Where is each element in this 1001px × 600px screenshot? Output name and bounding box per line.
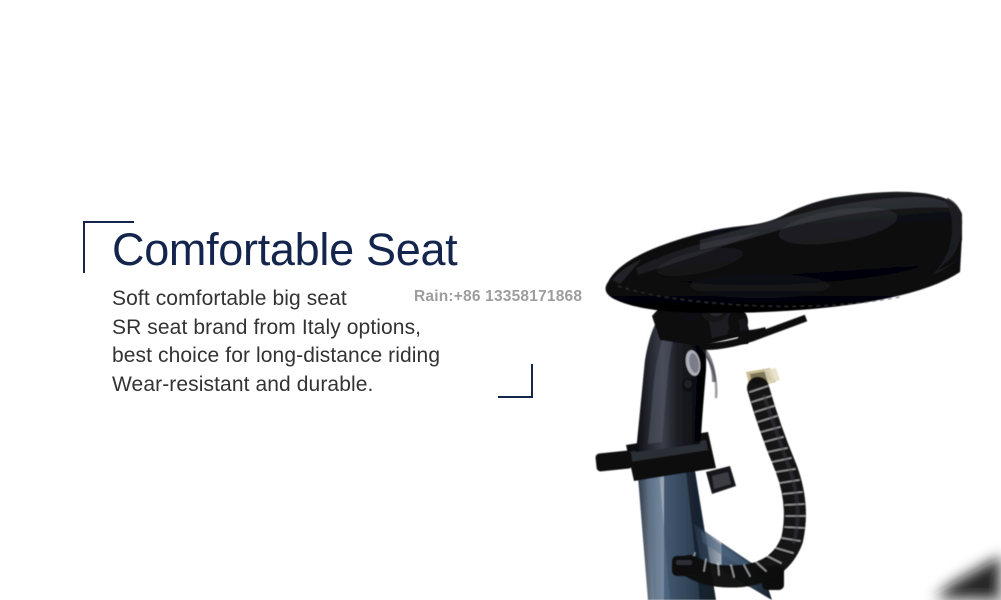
cable-fitting — [672, 556, 698, 576]
bracket-vertical-line — [83, 221, 85, 273]
seatpost — [595, 296, 784, 600]
contact-watermark: Rain:+86 13358171868 — [414, 288, 582, 306]
saddle-rails — [661, 282, 806, 346]
page-title: Comfortable Seat — [112, 222, 582, 278]
description-line: SR seat brand from Italy options, — [112, 314, 582, 343]
bicycle-saddle — [606, 192, 963, 313]
product-banner: Comfortable Seat Soft comfortable big se… — [0, 0, 1001, 600]
description-line: Wear-resistant and durable. — [112, 371, 582, 400]
coiled-cable — [690, 386, 805, 577]
text-block: Comfortable Seat Soft comfortable big se… — [112, 222, 582, 399]
description-line: best choice for long-distance riding — [112, 342, 582, 371]
blurred-tire — [890, 550, 1001, 600]
